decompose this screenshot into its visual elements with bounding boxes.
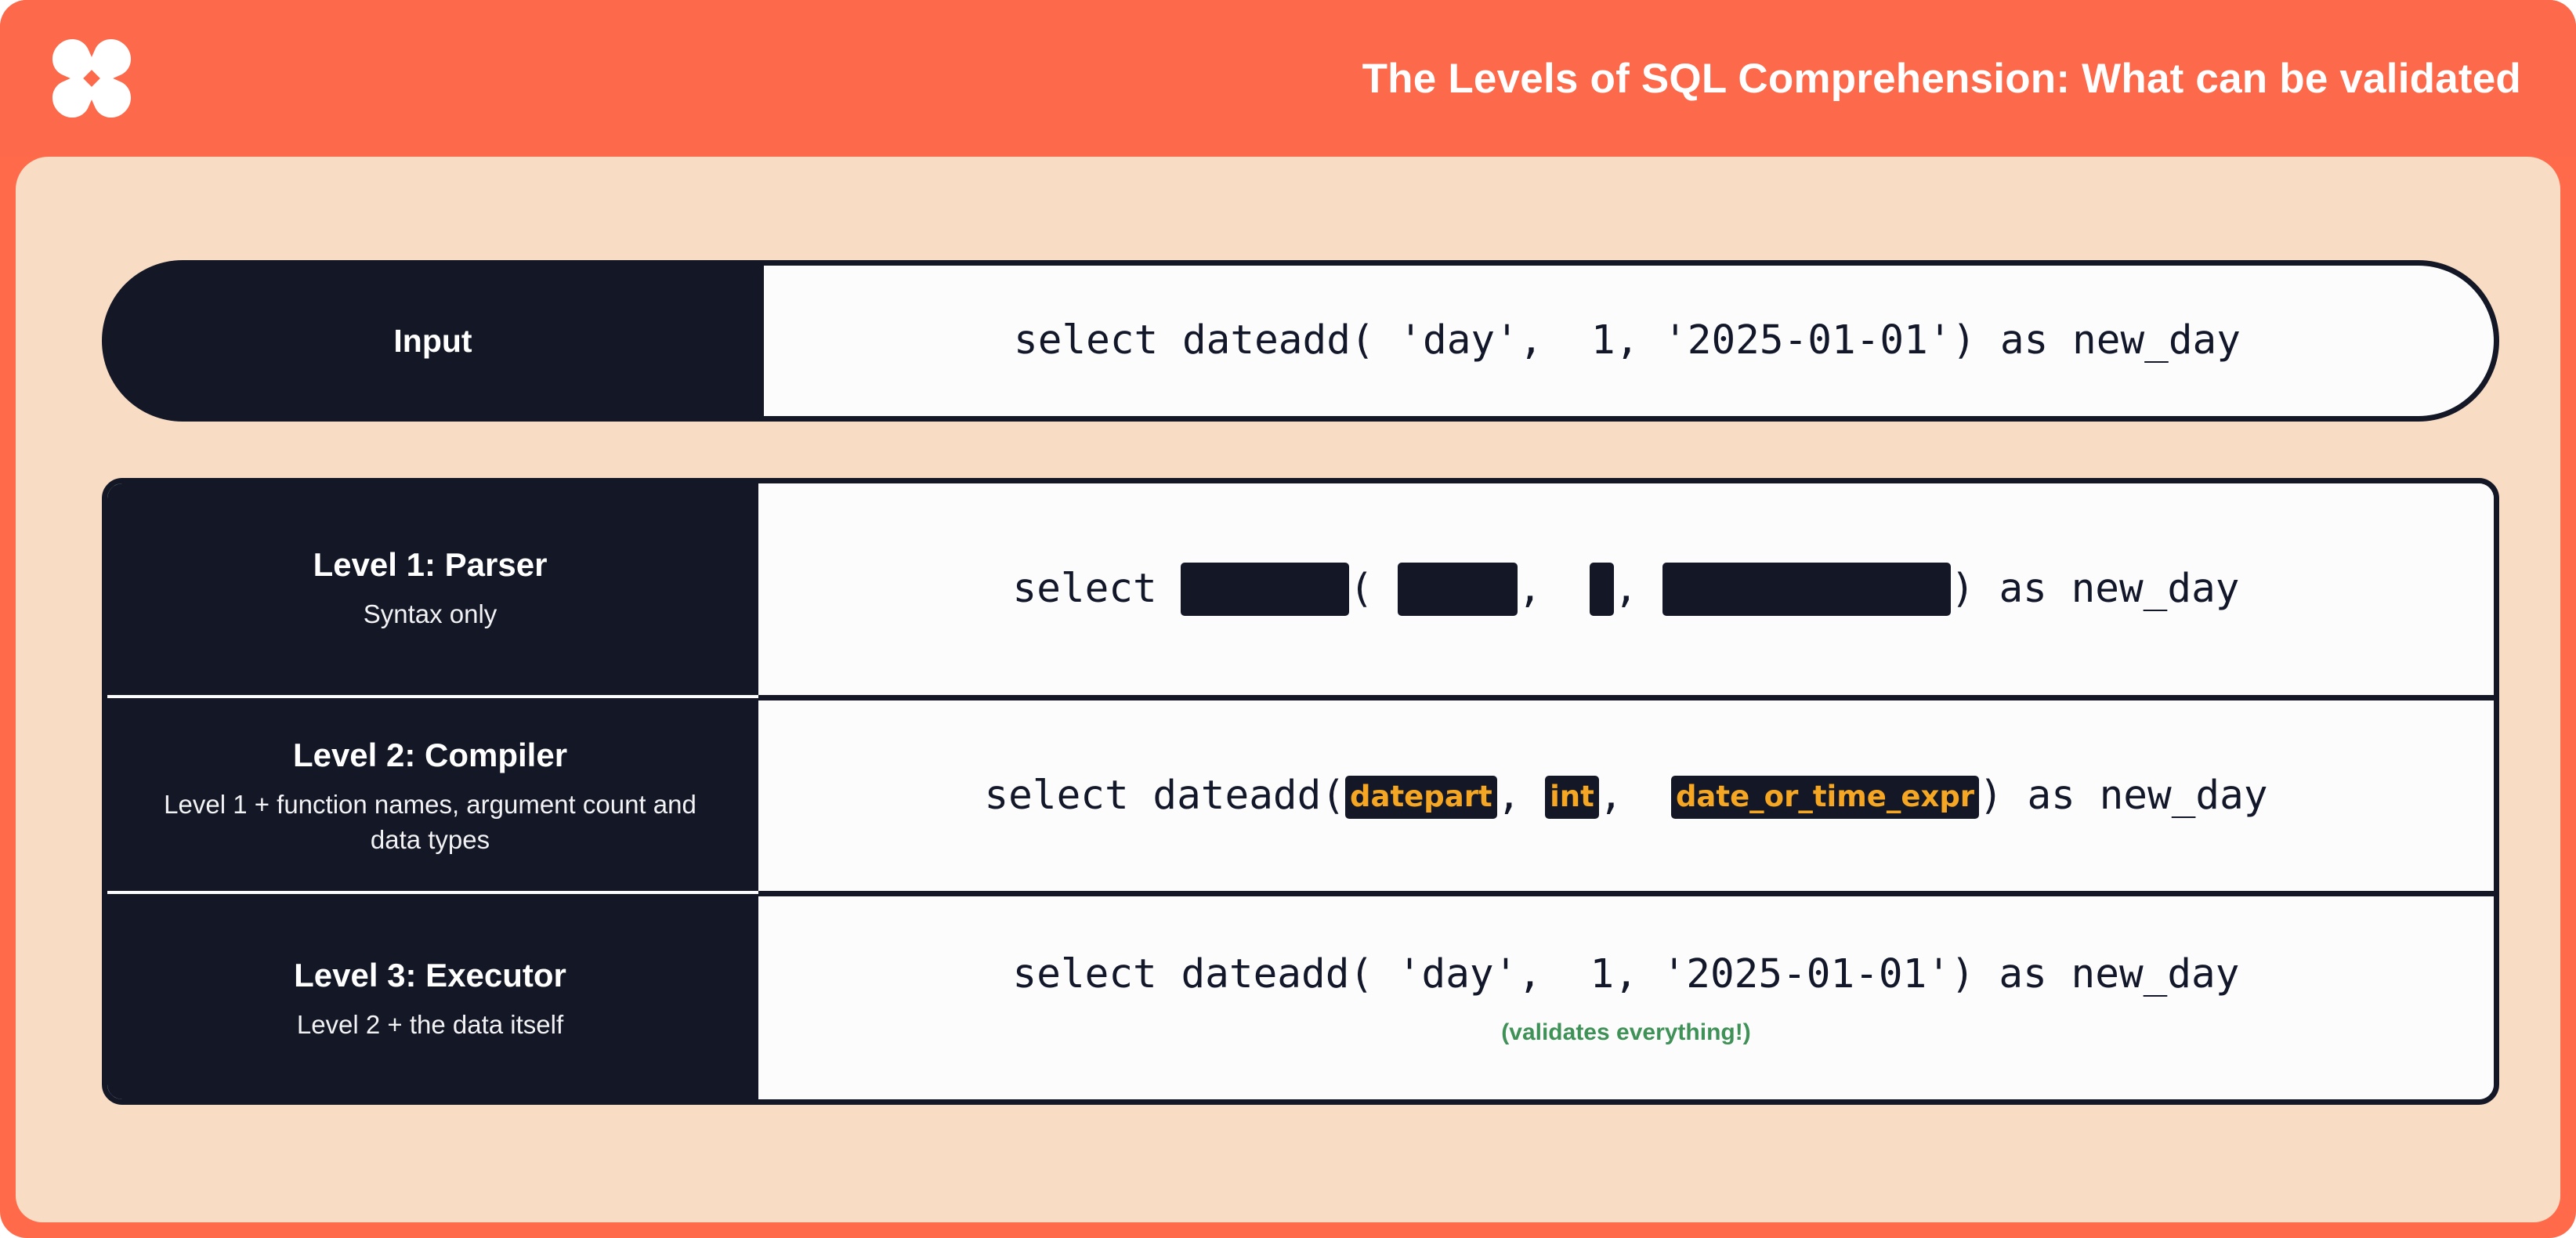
input-sql-code: select dateadd( 'day', 1, '2025-01-01') … xyxy=(1014,316,2241,366)
level-2-subtitle: Level 1 + function names, argument count… xyxy=(156,787,704,857)
page-title: The Levels of SQL Comprehension: What ca… xyxy=(1362,55,2521,103)
level-1-sql-code: select dateadd( 'day', 1, '2025-01-01') … xyxy=(1012,563,2239,616)
token-datepart: datepart xyxy=(1345,776,1497,819)
validates-everything-note: (validates everything!) xyxy=(1501,1019,1750,1046)
code-prefix: select xyxy=(1012,566,1181,612)
code-suffix: ) as new_day xyxy=(1979,773,2267,819)
redacted-function-name: dateadd xyxy=(1181,563,1349,616)
level-1-label-cell: Level 1: Parser Syntax only xyxy=(102,478,758,700)
redacted-arg-1: 'day' xyxy=(1398,563,1518,616)
input-row: Input select dateadd( 'day', 1, '2025-01… xyxy=(102,260,2499,422)
level-2-title: Level 2: Compiler xyxy=(293,737,567,773)
level-3-subtitle: Level 2 + the data itself xyxy=(297,1008,563,1043)
x-butterfly-logo-icon xyxy=(45,32,138,125)
code-prefix: select dateadd( xyxy=(984,773,1345,819)
level-1-title: Level 1: Parser xyxy=(313,546,548,583)
input-label-cell: Input xyxy=(102,260,764,422)
levels-table: Level 1: Parser Syntax only select datea… xyxy=(102,478,2499,1105)
redacted-arg-3: '2025-01-01' xyxy=(1662,563,1951,616)
redacted-arg-2: 1 xyxy=(1590,563,1614,616)
input-code-cell: select dateadd( 'day', 1, '2025-01-01') … xyxy=(761,260,2499,422)
level-2-label-cell: Level 2: Compiler Level 1 + function nam… xyxy=(102,695,758,896)
code-mid-3: , xyxy=(1614,566,1662,612)
code-mid-2: , xyxy=(1518,566,1590,612)
level-3-sql-code: select dateadd( 'day', 1, '2025-01-01') … xyxy=(1013,950,2240,1000)
body-panel: Input select dateadd( 'day', 1, '2025-01… xyxy=(16,157,2560,1222)
table-row: Level 2: Compiler Level 1 + function nam… xyxy=(107,695,2494,891)
input-label: Input xyxy=(393,323,472,360)
token-date-or-time-expr: date_or_time_expr xyxy=(1671,776,1979,819)
table-row: Level 3: Executor Level 2 + the data its… xyxy=(107,891,2494,1099)
code-suffix: ) as new_day xyxy=(1951,566,2239,612)
code-mid-2: , xyxy=(1599,773,1671,819)
token-int: int xyxy=(1545,776,1599,819)
level-1-code-cell: select dateadd( 'day', 1, '2025-01-01') … xyxy=(758,483,2494,695)
header-bar: The Levels of SQL Comprehension: What ca… xyxy=(0,0,2576,157)
level-3-code-cell: select dateadd( 'day', 1, '2025-01-01') … xyxy=(758,896,2494,1099)
level-2-code-cell: select dateadd(datepart, int, date_or_ti… xyxy=(758,700,2494,891)
infographic-card: The Levels of SQL Comprehension: What ca… xyxy=(0,0,2576,1238)
level-3-label-cell: Level 3: Executor Level 2 + the data its… xyxy=(102,891,758,1105)
level-1-subtitle: Syntax only xyxy=(364,597,497,632)
table-row: Level 1: Parser Syntax only select datea… xyxy=(107,483,2494,695)
level-3-title: Level 3: Executor xyxy=(294,957,566,994)
level-2-sql-code: select dateadd(datepart, int, date_or_ti… xyxy=(984,771,2267,821)
code-mid-1: ( xyxy=(1349,566,1397,612)
code-mid-1: , xyxy=(1497,773,1545,819)
